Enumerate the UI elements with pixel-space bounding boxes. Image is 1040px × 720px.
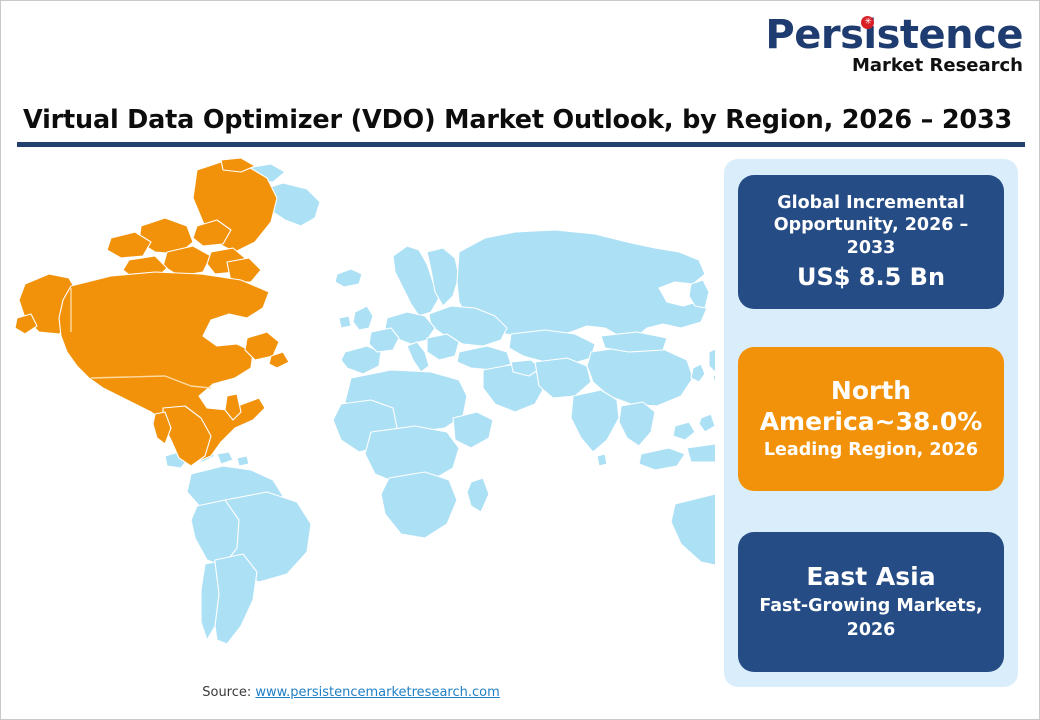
source-link[interactable]: www.persistencemarketresearch.com [255,685,499,700]
logo-brand-text: Persistence [765,12,1023,58]
stat-card-global-incremental-opportunity[interactable]: Global Incremental Opportunity, 2026 – 2… [738,175,1004,309]
company-logo: Persistence ✳ Market Research [765,15,1023,75]
card2-line-2: America~38.0% [760,407,983,438]
page-title: Virtual Data Optimizer (VDO) Market Outl… [23,105,983,135]
world-map [15,156,715,676]
card1-line-1: Global Incremental [777,192,964,214]
source-line: Source: www.persistencemarketresearch.co… [1,685,701,700]
logo-tagline: Market Research [765,57,1023,75]
card1-value: US$ 8.5 Bn [797,262,945,292]
card2-line-1: North [831,376,911,407]
logo-brand-name: Persistence ✳ [765,15,1023,55]
card2-value: Leading Region, 2026 [764,439,978,461]
stat-card-leading-region[interactable]: North America~38.0% Leading Region, 2026 [738,347,1004,491]
source-label: Source: [202,685,255,700]
infographic-page: Persistence ✳ Market Research Virtual Da… [0,0,1040,720]
card3-value: 2026 [847,619,896,641]
card1-line-2: Opportunity, 2026 – 2033 [748,214,994,259]
stat-card-fast-growing-market[interactable]: East Asia Fast-Growing Markets, 2026 [738,532,1004,672]
card3-line-1: East Asia [806,562,935,593]
world-map-svg [15,156,715,676]
title-divider [17,142,1025,147]
stats-panel: Global Incremental Opportunity, 2026 – 2… [724,159,1018,687]
card3-line-2: Fast-Growing Markets, [759,595,982,617]
map-region-north-america [15,158,289,466]
